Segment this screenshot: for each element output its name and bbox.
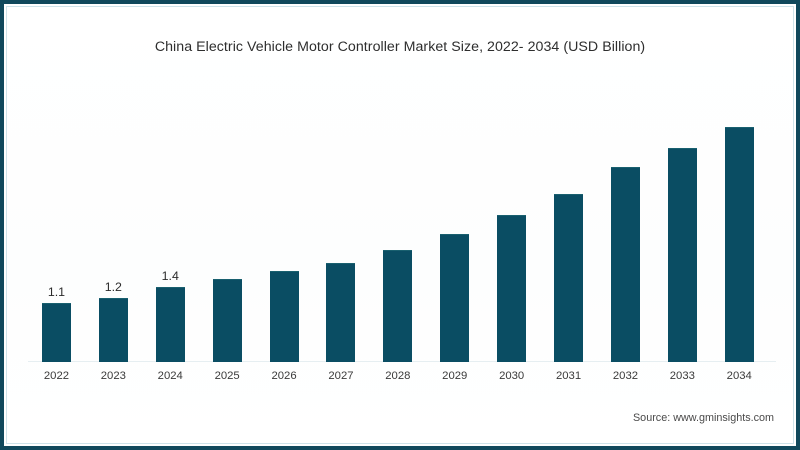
bar-slot bbox=[256, 108, 313, 362]
x-tick-2033: 2033 bbox=[654, 370, 711, 382]
bar-2023[interactable] bbox=[99, 298, 128, 362]
x-tick-2022: 2022 bbox=[28, 370, 85, 382]
bar-slot bbox=[483, 108, 540, 362]
bar-2033[interactable] bbox=[668, 148, 697, 362]
bar-slot: 1.2 bbox=[85, 108, 142, 362]
x-tick-2034: 2034 bbox=[711, 370, 768, 382]
bar-value-label-2023: 1.2 bbox=[85, 280, 142, 294]
chart-canvas: China Electric Vehicle Motor Controller … bbox=[8, 8, 792, 442]
bar-slot bbox=[711, 108, 768, 362]
chart-title: China Electric Vehicle Motor Controller … bbox=[8, 39, 792, 55]
bar-2029[interactable] bbox=[440, 234, 469, 362]
bar-series: 1.11.21.4 bbox=[28, 108, 776, 362]
x-tick-2031: 2031 bbox=[540, 370, 597, 382]
bar-slot bbox=[426, 108, 483, 362]
x-tick-2029: 2029 bbox=[426, 370, 483, 382]
bar-slot bbox=[597, 108, 654, 362]
x-axis-tick-labels: 2022202320242025202620272028202920302031… bbox=[28, 370, 776, 390]
bar-2030[interactable] bbox=[497, 215, 526, 362]
x-tick-2028: 2028 bbox=[369, 370, 426, 382]
x-tick-2030: 2030 bbox=[483, 370, 540, 382]
bar-2026[interactable] bbox=[270, 271, 299, 362]
plot-area: 1.11.21.4 bbox=[28, 108, 776, 362]
bar-slot bbox=[540, 108, 597, 362]
source-caption: Source: www.gminsights.com bbox=[633, 412, 774, 424]
bar-2034[interactable] bbox=[725, 127, 754, 362]
x-tick-2023: 2023 bbox=[85, 370, 142, 382]
x-tick-2024: 2024 bbox=[142, 370, 199, 382]
x-tick-2025: 2025 bbox=[199, 370, 256, 382]
bar-value-label-2024: 1.4 bbox=[142, 269, 199, 283]
bar-2027[interactable] bbox=[326, 263, 355, 362]
bar-slot: 1.1 bbox=[28, 108, 85, 362]
bar-slot bbox=[654, 108, 711, 362]
x-tick-2032: 2032 bbox=[597, 370, 654, 382]
bar-slot bbox=[369, 108, 426, 362]
bar-2025[interactable] bbox=[213, 279, 242, 362]
bar-2031[interactable] bbox=[554, 194, 583, 362]
bar-2022[interactable] bbox=[42, 303, 71, 362]
bar-slot bbox=[199, 108, 256, 362]
bar-slot: 1.4 bbox=[142, 108, 199, 362]
bar-slot bbox=[313, 108, 370, 362]
x-tick-2026: 2026 bbox=[256, 370, 313, 382]
bar-2024[interactable] bbox=[156, 287, 185, 362]
x-tick-2027: 2027 bbox=[313, 370, 370, 382]
bar-value-label-2022: 1.1 bbox=[28, 285, 85, 299]
chart-figure: China Electric Vehicle Motor Controller … bbox=[0, 0, 800, 450]
bar-2032[interactable] bbox=[611, 167, 640, 362]
bar-2028[interactable] bbox=[383, 250, 412, 362]
